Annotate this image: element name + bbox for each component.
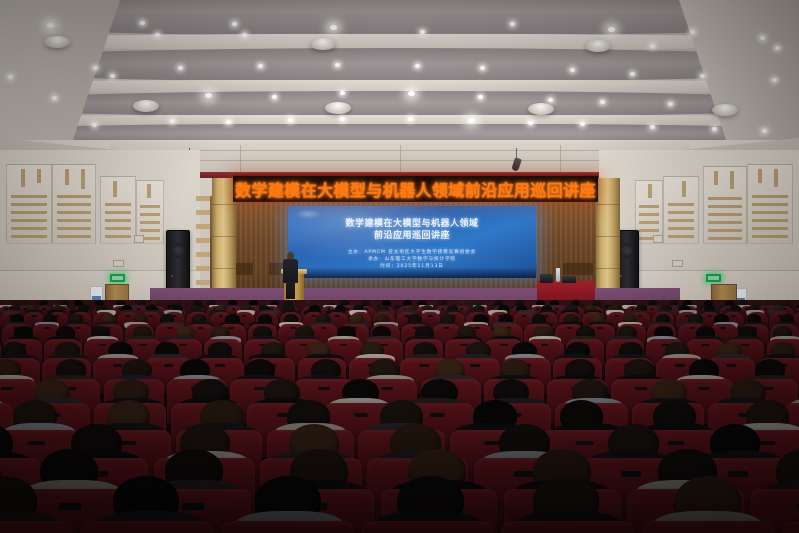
seat-grip — [615, 315, 619, 317]
slide-host: 承办：山东理工大学数学与统计学院 — [288, 256, 536, 263]
seat-grip — [698, 387, 710, 390]
auditorium-seat — [642, 521, 775, 533]
seat-grip — [139, 344, 147, 346]
presenter-body — [283, 259, 298, 283]
seat-grip — [576, 441, 593, 446]
seat-grip — [340, 344, 348, 346]
seat-grip — [731, 315, 735, 317]
wall-fixture — [113, 260, 124, 267]
seat-grip — [720, 327, 726, 329]
seat-grip — [764, 308, 768, 310]
seat-grip — [149, 315, 153, 317]
auditorium-seat — [782, 521, 799, 533]
seat-grip — [228, 327, 234, 329]
seat-grip — [335, 315, 339, 317]
seat-grip — [353, 413, 368, 417]
seat-grip — [621, 471, 641, 477]
seat-grip — [514, 471, 534, 477]
seat-grip — [567, 327, 573, 329]
seat-grip — [137, 308, 141, 310]
seat-grip — [215, 364, 225, 367]
slide-credits: 主办：APMCM 亚太地区大学生数学建模竞赛组委会 承办：山东理工大学数学与统计… — [288, 249, 536, 270]
seat-grip — [728, 471, 748, 477]
seat-grip — [742, 344, 750, 346]
seat-grip — [321, 327, 327, 329]
slide-title: 数学建模在大模型与机器人领域 前沿应用巡回讲座 — [288, 218, 536, 242]
seat-grip — [164, 364, 174, 367]
seat-grip — [28, 441, 45, 446]
seat-grip — [290, 327, 296, 329]
wall-fixture — [134, 235, 144, 243]
seat-grip — [179, 344, 187, 346]
led-banner: 数学建模在大模型与机器人领域前沿应用巡回讲座 — [233, 174, 598, 202]
slide-title-line1: 数学建模在大模型与机器人领域 — [288, 218, 536, 230]
seat-grip — [667, 441, 684, 446]
wall-fixture — [653, 235, 663, 243]
seat-grip — [541, 344, 549, 346]
seat-grip — [44, 327, 50, 329]
seat-grip — [242, 315, 246, 317]
water-bottle — [556, 268, 560, 282]
seat-grip — [125, 315, 129, 317]
seat-grip — [521, 315, 525, 317]
led-banner-text: 数学建模在大模型与机器人领域前沿应用巡回讲座 — [235, 177, 596, 201]
slide-title-line2: 前沿应用巡回讲座 — [288, 230, 536, 242]
av-equipment — [540, 274, 553, 283]
av-equipment — [562, 276, 576, 283]
seat-grip — [726, 364, 736, 367]
seat-grip — [167, 327, 173, 329]
seat-grip — [638, 315, 642, 317]
seat-grip — [318, 387, 330, 390]
seat-grip — [198, 327, 204, 329]
seat-grip — [219, 315, 223, 317]
auditorium-seat — [361, 521, 494, 533]
wall-fixture — [672, 260, 683, 267]
presenter — [283, 252, 298, 298]
seat-grip — [690, 327, 696, 329]
seat-grip — [471, 364, 481, 367]
seat-grip — [42, 308, 46, 310]
exit-sign-icon — [706, 274, 721, 282]
seat-grip — [675, 364, 685, 367]
auditorium-seat — [221, 521, 354, 533]
seat-grip — [428, 315, 432, 317]
auditorium-seat — [501, 521, 634, 533]
seat-grip — [32, 315, 36, 317]
projection-screen: 数学建模在大模型与机器人领域 前沿应用巡回讲座 主办：APMCM 亚太地区大学生… — [288, 206, 536, 278]
exit-sign-icon — [110, 274, 125, 282]
seat-grip — [708, 315, 712, 317]
seat-grip — [232, 308, 236, 310]
seat-grip — [181, 503, 204, 510]
seat-grip — [300, 344, 308, 346]
seat-grip — [758, 441, 775, 446]
seat-grip — [75, 327, 81, 329]
auditorium-seat — [80, 521, 213, 533]
ceiling — [0, 0, 799, 150]
seat-grip — [58, 503, 81, 510]
seat-grip — [635, 387, 647, 390]
presenter-legs — [286, 282, 295, 299]
seat-grip — [597, 327, 603, 329]
auditorium-photo: 数学建模在大模型与机器人领域 前沿应用巡回讲座 主办：APMCM 亚太地区大学生… — [0, 0, 799, 533]
seat-grip — [113, 364, 123, 367]
seat-grip — [99, 344, 107, 346]
seat-grip — [650, 308, 654, 310]
seat-grip — [419, 364, 429, 367]
seat-grip — [444, 327, 450, 329]
seat-grip — [701, 344, 709, 346]
seat-grip — [381, 387, 393, 390]
audience-seating — [0, 300, 799, 533]
stage-column-right — [596, 178, 620, 300]
seat-grip — [474, 327, 480, 329]
slide-organizer: 主办：APMCM 亚太地区大学生数学建模竞赛组委会 — [288, 249, 536, 256]
pa-speaker — [166, 230, 190, 290]
seat-grip — [430, 413, 445, 417]
seat-grip — [501, 344, 509, 346]
seat-grip — [1, 387, 13, 390]
auditorium-seat — [0, 521, 73, 533]
